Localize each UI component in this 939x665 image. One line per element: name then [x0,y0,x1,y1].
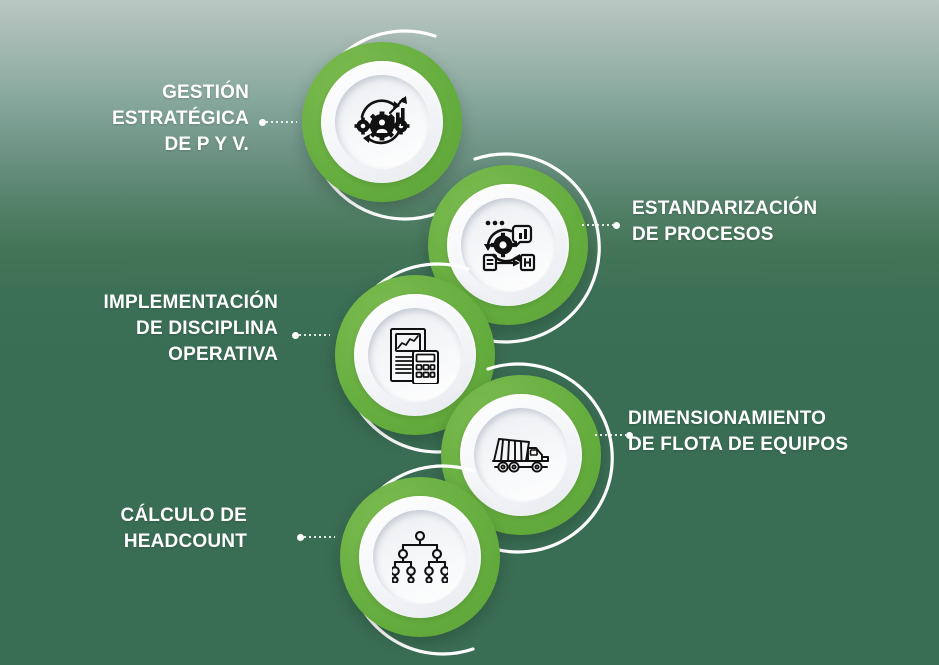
label-implementacion-disciplina: IMPLEMENTACIÓN DE DISCIPLINA OPERATIVA [22,290,278,367]
connector-endpoint-dot [259,119,266,126]
gears-people-growth-icon [321,61,443,183]
infographic-canvas: GESTIÓN ESTRATÉGICA DE P Y V. [0,0,939,665]
connector-implementacion-disciplina [292,331,330,339]
connector-endpoint-dot [613,222,620,229]
connector-dotted-line [266,121,297,123]
node-gestion-estrategica[interactable] [302,42,462,202]
connector-dotted-line [299,334,330,336]
connector-dotted-line [582,224,613,226]
label-calculo-headcount: CÁLCULO DE HEADCOUNT [62,503,247,555]
org-chart-icon [359,496,481,618]
label-estandarizacion-procesos: ESTANDARIZACIÓN DE PROCESOS [632,196,902,248]
report-calculator-icon [354,294,476,416]
connector-calculo-headcount [297,533,335,541]
connector-dotted-line [595,434,626,436]
node-disc [447,184,569,306]
node-disc [359,496,481,618]
label-dimensionamiento-flota: DIMENSIONAMIENTO DE FLOTA DE EQUIPOS [628,406,920,458]
process-gear-flow-icon [447,184,569,306]
connector-estandarizacion-procesos [582,221,620,229]
connector-dotted-line [304,536,335,538]
node-disc [321,61,443,183]
node-disc [354,294,476,416]
connector-endpoint-dot [292,332,299,339]
connector-gestion-estrategica [259,118,297,126]
connector-endpoint-dot [297,534,304,541]
node-calculo-headcount[interactable] [340,477,500,637]
label-gestion-estrategica: GESTIÓN ESTRATÉGICA DE P Y V. [39,80,249,157]
